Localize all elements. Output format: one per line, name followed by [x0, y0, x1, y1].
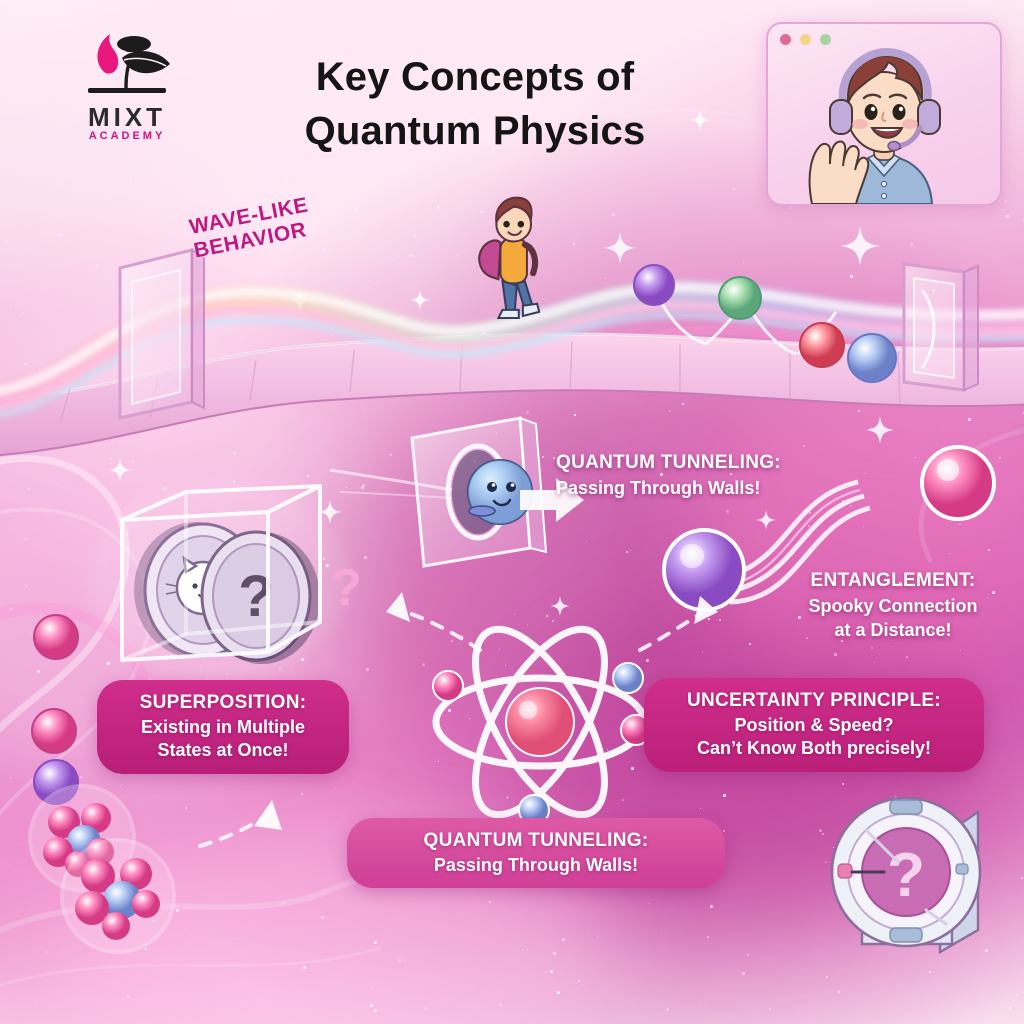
wave-like-behavior-label: WAVE-LIKE BEHAVIOR: [187, 171, 432, 264]
cat-coin: [134, 522, 261, 658]
video-call-window[interactable]: [766, 22, 1002, 206]
superposition-heading: SUPERPOSITION:: [117, 691, 329, 716]
arrow-head-bottom: [254, 800, 282, 830]
superposition-line-2: States at Once!: [117, 739, 329, 763]
entanglement-label: ENTANGLEMENT: Spooky Connection at a Dis…: [786, 568, 1000, 642]
wave-path-scene: [0, 250, 1024, 456]
arrow-head-left: [386, 592, 410, 622]
atom-cluster-bubbles: [30, 786, 174, 952]
arrow-head-right: [694, 596, 718, 624]
path-spheres: [634, 265, 896, 382]
boy-with-headset-waving-avatar: [768, 24, 1000, 204]
uncertainty-principle-label: UNCERTAINTY PRINCIPLE: Position & Speed?…: [644, 678, 984, 772]
quantum-tunneling-bottom-heading: QUANTUM TUNNELING:: [367, 829, 705, 854]
left-sphere-chain: [32, 615, 78, 804]
uncertainty-heading: UNCERTAINTY PRINCIPLE:: [664, 689, 964, 714]
title-line-1: Key Concepts of: [215, 50, 735, 104]
infographic-poster: MIXT ACADEMY Key Concepts of Quantum Phy…: [0, 0, 1024, 1024]
atom-electrons: [433, 663, 651, 825]
graduation-cap-flame-logo-icon: [62, 26, 192, 104]
svg-text:?: ?: [887, 841, 925, 910]
walking-boy-figure: [479, 198, 539, 318]
quantum-tunneling-bottom-line-1: Passing Through Walls!: [367, 854, 705, 878]
brand-name: MIXT: [62, 102, 192, 133]
tunneling-illustration: [330, 418, 584, 566]
svg-text:?: ?: [238, 564, 273, 629]
schrodinger-box-illustration: ? ?: [88, 480, 362, 680]
uncertainty-line-2: Can’t Know Both precisely!: [664, 737, 964, 761]
brand-logo: MIXT ACADEMY: [62, 26, 192, 144]
entanglement-line-2: at a Distance!: [786, 618, 1000, 642]
entanglement-heading: ENTANGLEMENT:: [786, 568, 1000, 594]
page-title: Key Concepts of Quantum Physics: [215, 50, 735, 158]
question-coin: ?: [202, 532, 320, 664]
superposition-label: SUPERPOSITION: Existing in Multiple Stat…: [97, 680, 349, 774]
question-mark-decor: ?: [330, 559, 362, 617]
title-line-2: Quantum Physics: [215, 104, 735, 158]
superposition-line-1: Existing in Multiple: [117, 716, 329, 740]
brand-subtitle: ACADEMY: [62, 130, 192, 142]
entanglement-line-1: Spooky Connection: [786, 594, 1000, 618]
quantum-tunneling-top-heading: QUANTUM TUNNELING:: [556, 450, 806, 476]
portal-left: [120, 250, 204, 418]
quantum-tunneling-top-line-1: Passing Through Walls!: [556, 476, 806, 500]
portal-right: [904, 264, 978, 390]
quantum-tunneling-top-label: QUANTUM TUNNELING: Passing Through Walls…: [556, 450, 806, 500]
measurement-scanner-illustration: ?: [832, 798, 980, 952]
quantum-tunneling-bottom-label: QUANTUM TUNNELING: Passing Through Walls…: [347, 818, 725, 888]
uncertainty-line-1: Position & Speed?: [664, 714, 964, 738]
atom-illustration: [433, 610, 651, 834]
